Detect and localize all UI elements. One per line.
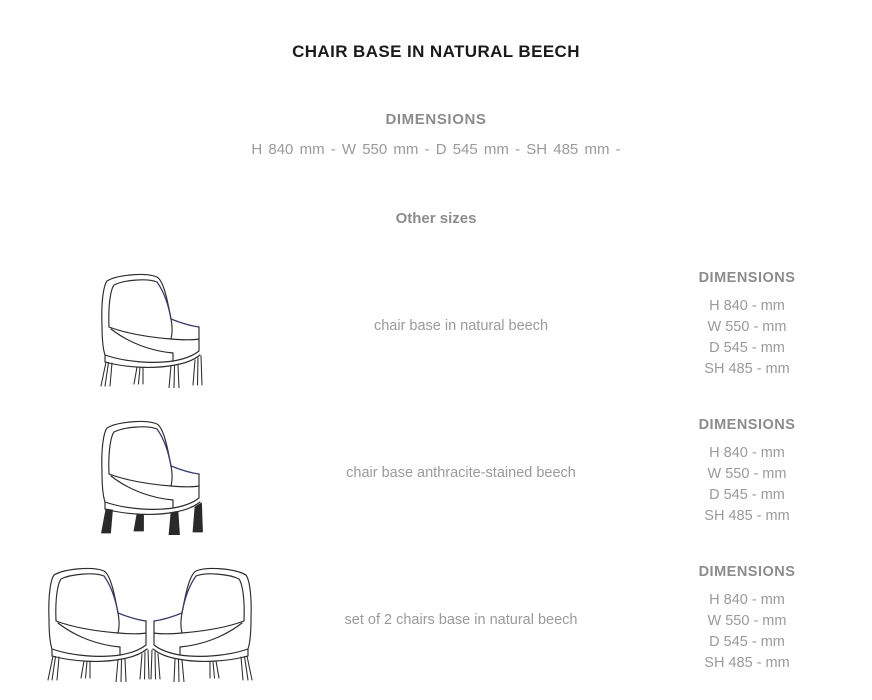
dimension-seat-height: SH 485 - mm	[632, 359, 862, 380]
dimensions-label: DIMENSIONS	[632, 271, 862, 286]
chair-illustration-natural-beech	[0, 252, 300, 399]
list-item[interactable]: chair base anthracite-stained beech DIME…	[0, 399, 872, 546]
chair-icon	[85, 263, 215, 388]
dimension-height: H 840 - mm	[632, 443, 862, 464]
chair-illustration-anthracite-stained-beech	[0, 399, 300, 546]
other-sizes-list: chair base in natural beech DIMENSIONS H…	[0, 252, 872, 693]
list-item-dimensions: DIMENSIONS H 840 - mm W 550 - mm D 545 -…	[632, 565, 872, 674]
list-item-label: chair base anthracite-stained beech	[300, 465, 632, 481]
dimension-depth: D 545 - mm	[632, 338, 862, 359]
dimension-width: W 550 - mm	[632, 464, 862, 485]
dimension-seat-height: SH 485 - mm	[632, 653, 862, 674]
dimension-depth: D 545 - mm	[632, 632, 862, 653]
list-item-dimensions: DIMENSIONS H 840 - mm W 550 - mm D 545 -…	[632, 418, 872, 527]
dimension-width: W 550 - mm	[632, 317, 862, 338]
page-title: CHAIR BASE IN NATURAL BEECH	[0, 0, 872, 60]
dimensions-label: DIMENSIONS	[632, 418, 862, 433]
dimension-depth: D 545 - mm	[632, 485, 862, 506]
header-dimensions-block: DIMENSIONS H 840 mm - W 550 mm - D 545 m…	[0, 112, 872, 157]
dimension-width: W 550 - mm	[632, 611, 862, 632]
chair-illustration-set-of-2	[0, 546, 300, 693]
chair-pair-icon	[35, 557, 265, 682]
header-dimensions-label: DIMENSIONS	[0, 112, 872, 127]
dimensions-label: DIMENSIONS	[632, 565, 862, 580]
dimension-height: H 840 - mm	[632, 296, 862, 317]
header-dimensions-values: H 840 mm - W 550 mm - D 545 mm - SH 485 …	[0, 142, 872, 157]
list-item-label: set of 2 chairs base in natural beech	[300, 612, 632, 628]
list-item-dimensions: DIMENSIONS H 840 - mm W 550 - mm D 545 -…	[632, 271, 872, 380]
list-item-label: chair base in natural beech	[300, 318, 632, 334]
chair-icon	[85, 410, 215, 535]
dimension-height: H 840 - mm	[632, 590, 862, 611]
list-item[interactable]: chair base in natural beech DIMENSIONS H…	[0, 252, 872, 399]
dimension-seat-height: SH 485 - mm	[632, 506, 862, 527]
list-item[interactable]: set of 2 chairs base in natural beech DI…	[0, 546, 872, 693]
other-sizes-heading: Other sizes	[0, 211, 872, 226]
